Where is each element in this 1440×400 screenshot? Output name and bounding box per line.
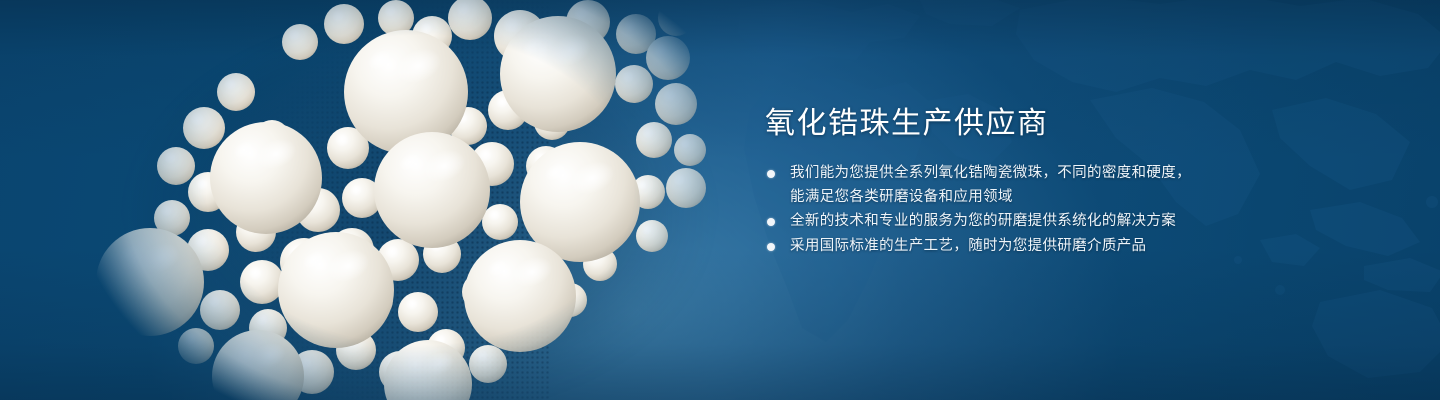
page-title: 氧化锆珠生产供应商 — [765, 104, 1385, 144]
list-item: 全新的技术和专业的服务为您的研磨提供系统化的解决方案 — [765, 210, 1385, 234]
banner-copy: 氧化锆珠生产供应商 我们能为您提供全系列氧化锆陶瓷微珠，不同的密度和硬度， 能满… — [765, 104, 1385, 259]
bullet-dot-icon — [767, 170, 775, 178]
bullet-dot-icon — [767, 218, 775, 226]
list-item: 采用国际标准的生产工艺，随时为您提供研磨介质产品 — [765, 235, 1385, 259]
halftone-texture — [120, 0, 550, 400]
bullet-text-line: 我们能为您提供全系列氧化锆陶瓷微珠，不同的密度和硬度， — [790, 162, 1385, 186]
bullet-text-line: 能满足您各类研磨设备和应用领域 — [790, 186, 1385, 210]
bullet-dot-icon — [767, 243, 775, 251]
bullet-text-line: 采用国际标准的生产工艺，随时为您提供研磨介质产品 — [790, 235, 1385, 259]
feature-list: 我们能为您提供全系列氧化锆陶瓷微珠，不同的密度和硬度， 能满足您各类研磨设备和应… — [765, 162, 1385, 258]
list-item: 我们能为您提供全系列氧化锆陶瓷微珠，不同的密度和硬度， 能满足您各类研磨设备和应… — [765, 162, 1385, 209]
hero-banner: 氧化锆珠生产供应商 我们能为您提供全系列氧化锆陶瓷微珠，不同的密度和硬度， 能满… — [0, 0, 1440, 400]
bullet-text-line: 全新的技术和专业的服务为您的研磨提供系统化的解决方案 — [790, 210, 1385, 234]
